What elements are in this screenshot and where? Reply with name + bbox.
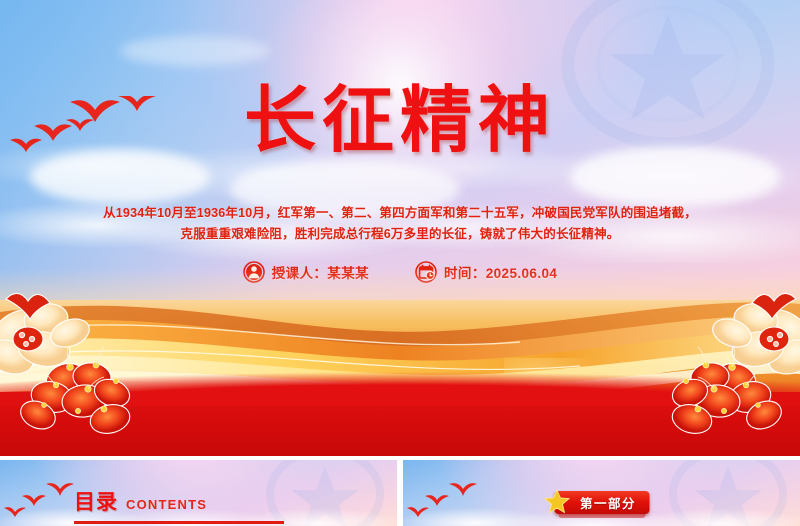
section-thumbnail[interactable]: 第一部分 bbox=[403, 460, 800, 526]
section-banner-label: 第一部分 bbox=[580, 493, 636, 512]
contents-block: 目录 CONTENTS bbox=[74, 486, 284, 524]
subtitle-line-1: 从1934年10月至1936年10月，红军第一、第二、第四方面军和第二十五军，冲… bbox=[74, 203, 726, 224]
contents-row: 目录 CONTENTS bbox=[74, 486, 284, 516]
presentation-screen: 长征精神 从1934年10月至1936年10月，红军第一、第二、第四方面军和第二… bbox=[0, 0, 800, 526]
main-slide[interactable]: 长征精神 从1934年10月至1936年10月，红军第一、第二、第四方面军和第二… bbox=[0, 0, 800, 456]
contents-title-en: CONTENTS bbox=[126, 497, 207, 512]
cloud-top bbox=[120, 36, 270, 66]
contents-thumbnail[interactable]: 目录 CONTENTS bbox=[0, 460, 397, 526]
section-banner[interactable]: 第一部分 bbox=[554, 491, 649, 514]
flying-birds-icon bbox=[405, 480, 495, 522]
gold-star-icon bbox=[543, 488, 570, 515]
contents-underline bbox=[74, 521, 284, 524]
peony-flower-icon bbox=[0, 281, 142, 456]
peony-flower-icon bbox=[660, 281, 800, 456]
title-container: 长征精神 bbox=[0, 84, 800, 156]
subtitle-container: 从1934年10月至1936年10月，红军第一、第二、第四方面军和第二十五军，冲… bbox=[0, 203, 800, 245]
slide-thumbnail-strip: 目录 CONTENTS bbox=[0, 460, 800, 526]
subtitle-line-2: 克服重重艰难险阻，胜利完成总行程6万多里的长征，铸就了伟大的长征精神。 bbox=[74, 224, 726, 245]
page-title: 长征精神 bbox=[0, 84, 800, 156]
contents-title-cn: 目录 bbox=[74, 486, 118, 516]
